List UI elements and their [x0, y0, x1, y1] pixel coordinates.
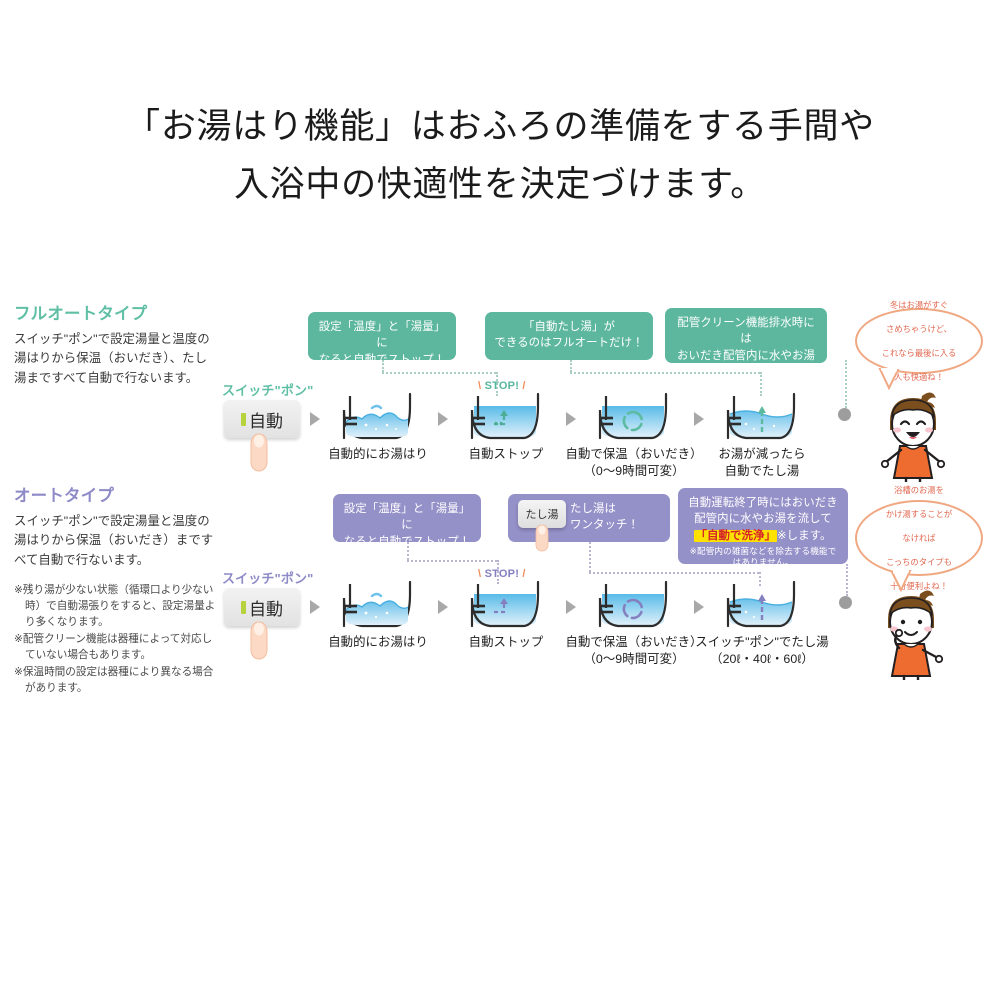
callout-note: ※配管内の雑菌などを除去する機能ではありません。 — [686, 546, 840, 568]
callout-full-auto-tashiyu: 「自動たし湯」が できるのはフルオートだけ！ — [485, 312, 653, 360]
step-arrow — [566, 600, 576, 614]
bathtub-filling-icon — [332, 576, 424, 634]
auto-description-block: オートタイプ スイッチ"ポン"で設定湯量と温度の湯はりから保温（おいだき）まです… — [14, 487, 219, 697]
callout-line: おいだき配管内に水やお湯を — [673, 348, 819, 381]
bubble-line: 冬はお湯がすぐ — [882, 299, 957, 311]
bathtub-full-icon — [460, 388, 552, 446]
auto-note: ※保温時間の設定は器種により異なる場合があります。 — [14, 664, 219, 696]
step-arrow — [694, 600, 704, 614]
flash-right-icon: / — [522, 380, 525, 392]
led-indicator-icon — [241, 413, 246, 426]
speech-bubble-1: 冬はお湯がすぐ さめちゃうけど、 これなら最後に入る 人も快適ね！ — [855, 308, 983, 374]
callout-line: 設定「温度」と「湯量」に — [316, 319, 448, 352]
connector-dot-horizontal — [589, 572, 759, 574]
callout-line: 「自動たし湯」が — [493, 319, 645, 335]
connector-dot-vertical — [846, 564, 848, 596]
auto-switch-label: スイッチ"ポン" — [222, 568, 313, 587]
stop-badge: \ STOP! / — [478, 380, 526, 392]
auto-body-text: スイッチ"ポン"で設定湯量と温度の湯はりから保温（おいだき）まですべて自動で行な… — [14, 512, 219, 571]
callout-line: 設定「温度」と「湯量」に — [341, 501, 473, 534]
bubble-line: 浴槽のお湯を — [886, 484, 952, 496]
connector-dot-horizontal — [407, 560, 497, 562]
led-indicator-icon — [241, 601, 246, 614]
connector-dot-vertical — [589, 542, 591, 572]
callout-line: ワンタッチ！ — [570, 517, 662, 533]
character-avatar-2 — [858, 584, 968, 680]
full-auto-heading: フルオートタイプ — [14, 305, 219, 325]
stop-badge-label: STOP! — [485, 380, 520, 392]
connector-dot-vertical — [382, 360, 384, 372]
flash-left-icon: \ — [478, 568, 481, 580]
step-caption: お湯が減ったら 自動でたし湯 — [672, 446, 852, 480]
auto-heading: オートタイプ — [14, 487, 219, 507]
connector-end-dot — [838, 408, 851, 421]
full-auto-body-text: スイッチ"ポン"で設定湯量と温度の湯はりから保温（おいだき）、たし湯まですべて自… — [14, 330, 219, 389]
callout-line: 配管クリーン機能排水時には — [673, 315, 819, 348]
bubble-line: さめちゃうけど、 — [882, 323, 957, 335]
step-caption-line: お湯が減ったら — [718, 447, 805, 461]
bathtub-filling-icon — [332, 388, 424, 446]
flash-right-icon: / — [522, 568, 525, 580]
bubble-line: これなら最後に入る — [882, 347, 957, 359]
step-auto-3: 自動で保温（おいだき） （0〜9時間可変） — [588, 576, 680, 639]
step-caption: スイッチ"ポン"でたし湯 （20ℓ・40ℓ・60ℓ） — [672, 634, 852, 668]
step-arrow — [438, 412, 448, 426]
auto-note: ※残り湯が少ない状態（循環口より少ない時）で自動湯張りをすると、設定湯量より多く… — [14, 582, 219, 630]
step-auto-4: スイッチ"ポン"でたし湯 （20ℓ・40ℓ・60ℓ） — [716, 576, 808, 639]
step-caption-line: （20ℓ・40ℓ・60ℓ） — [672, 651, 852, 668]
bubble-line: かけ湯することが — [886, 508, 952, 520]
callout-line-tail: ※します。 — [777, 530, 832, 542]
step-arrow — [310, 600, 320, 614]
step-caption-line: スイッチ"ポン"でたし湯 — [695, 635, 828, 649]
step-caption-line: 自動ストップ — [469, 635, 544, 649]
step-full-auto-1: 自動的にお湯はり — [332, 388, 424, 451]
connector-end-dot — [839, 596, 852, 609]
bathtub-reheat-icon — [588, 576, 680, 634]
callout-auto-stop: 設定「温度」と「湯量」に なると自動でストップ！ — [333, 494, 481, 542]
auto-button-label: 自動 — [249, 595, 283, 620]
connector-dot-vertical — [845, 360, 847, 408]
tashiyu-button-label: たし湯 — [526, 506, 559, 522]
connector-dot-vertical — [407, 542, 409, 560]
callout-line: 自動運転終了時にはおいだき — [686, 495, 840, 511]
speech-bubble-2: 浴槽のお湯を かけ湯することが なければ こっちのタイプも 十分便利よね！ — [855, 500, 983, 576]
step-caption-line: 自動でたし湯 — [672, 463, 852, 480]
connector-dot-horizontal — [570, 372, 760, 374]
callout-line-highlighted: 「自動で洗浄」※します。 — [686, 528, 840, 544]
page-title-line-1: 「お湯はり機能」はおふろの準備をする手間や — [0, 98, 1000, 156]
connector-dot-vertical — [570, 360, 572, 372]
step-full-auto-4: お湯が減ったら 自動でたし湯 — [716, 388, 808, 451]
auto-notes-list: ※残り湯が少ない状態（循環口より少ない時）で自動湯張りをすると、設定湯量より多く… — [14, 582, 219, 697]
stop-badge: \ STOP! / — [478, 568, 526, 580]
full-auto-description-block: フルオートタイプ スイッチ"ポン"で設定湯量と温度の湯はりから保温（おいだき）、… — [14, 305, 219, 389]
auto-button-label: 自動 — [249, 407, 283, 432]
step-auto-1: 自動的にお湯はり — [332, 576, 424, 639]
step-auto-2: \ STOP! / 自動ストップ — [460, 576, 552, 639]
auto-note: ※配管クリーン機能は器種によって対応していない場合もあります。 — [14, 631, 219, 663]
full-auto-switch-label: スイッチ"ポン" — [222, 380, 313, 399]
page-title: 「お湯はり機能」はおふろの準備をする手間や 入浴中の快適性を決定づけます。 — [0, 98, 1000, 214]
stop-badge-label: STOP! — [485, 568, 520, 580]
flash-left-icon: \ — [478, 380, 481, 392]
pointing-finger-icon — [533, 524, 557, 552]
callout-full-auto-stop: 設定「温度」と「湯量」に なると自動でストップ！ — [308, 312, 456, 360]
bathtub-add-water-icon — [716, 576, 808, 634]
page-title-line-2: 入浴中の快適性を決定づけます。 — [0, 156, 1000, 214]
step-caption-line: 自動的にお湯はり — [328, 635, 428, 649]
connector-dot-horizontal — [382, 372, 496, 374]
callout-line: たし湯は — [570, 501, 662, 517]
step-arrow — [438, 600, 448, 614]
step-arrow — [566, 412, 576, 426]
highlight-text: 「自動で洗浄」 — [694, 530, 777, 542]
step-arrow — [310, 412, 320, 426]
callout-auto-pipe-clean: 自動運転終了時にはおいだき 配管内に水やお湯を流して 「自動で洗浄」※します。 … — [678, 488, 848, 564]
callout-line: 配管内に水やお湯を流して — [686, 511, 840, 527]
bubble-line: こっちのタイプも — [886, 556, 952, 568]
bathtub-add-water-icon — [716, 388, 808, 446]
step-arrow — [694, 412, 704, 426]
step-caption-line: 自動的にお湯はり — [328, 447, 428, 461]
bubble-line: なければ — [886, 532, 952, 544]
step-full-auto-3: 自動で保温（おいだき） （0〜9時間可変） — [588, 388, 680, 451]
callout-full-auto-pipe-clean: 配管クリーン機能排水時には おいだき配管内に水やお湯を 自動で流します。 — [665, 308, 827, 363]
pointing-finger-icon — [246, 620, 280, 660]
callout-line: できるのはフルオートだけ！ — [493, 335, 645, 351]
bathtub-full-icon — [460, 576, 552, 634]
pointing-finger-icon — [246, 432, 280, 472]
character-avatar-1 — [860, 386, 970, 482]
bathtub-reheat-icon — [588, 388, 680, 446]
step-full-auto-2: \ STOP! / 自動ストップ — [460, 388, 552, 451]
step-caption-line: 自動ストップ — [469, 447, 544, 461]
